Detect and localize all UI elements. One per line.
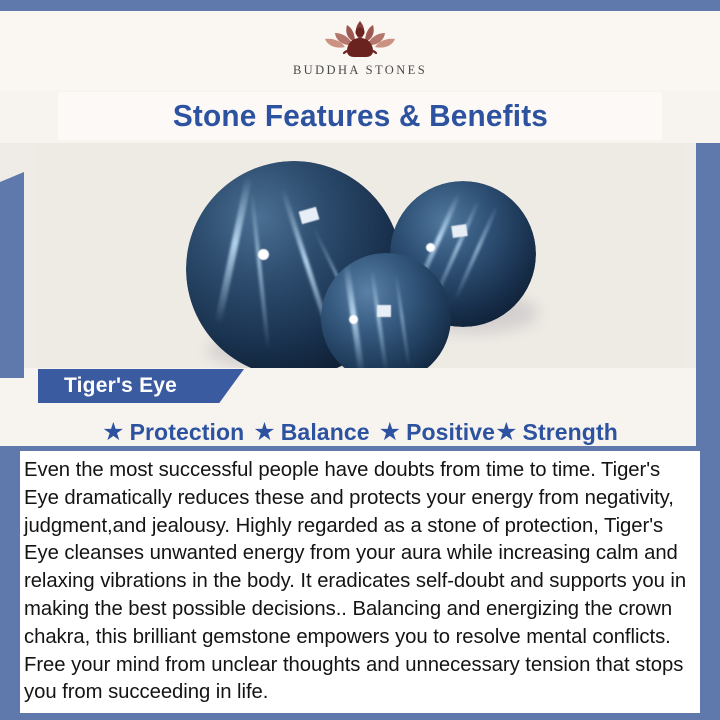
- page-title: Stone Features & Benefits: [172, 98, 547, 134]
- brand-logo-area: BUDDHA STONES: [0, 11, 720, 91]
- benefit-label: Positive: [406, 419, 495, 446]
- benefit-item-protection: ★ Protection: [102, 419, 253, 446]
- bead-reflection: [451, 224, 468, 238]
- product-photo: [0, 143, 720, 368]
- benefit-label: Protection: [130, 419, 245, 446]
- title-band: Stone Features & Benefits: [58, 92, 662, 140]
- benefit-label: Strength: [523, 419, 618, 446]
- brand-name: BUDDHA STONES: [293, 63, 427, 78]
- benefit-label: Balance: [281, 419, 370, 446]
- bead-highlight: [426, 243, 435, 252]
- lotus-meditation-icon: [314, 15, 406, 61]
- bead-highlight: [258, 249, 269, 260]
- stone-name-banner: Tiger's Eye: [38, 369, 244, 403]
- star-icon: ★: [495, 420, 517, 445]
- product-photo-inner: [38, 143, 682, 368]
- top-accent-strip: [0, 0, 720, 11]
- right-accent-bar: [696, 143, 720, 446]
- description-frame: Even the most successful people have dou…: [0, 446, 720, 720]
- star-icon: ★: [379, 420, 401, 445]
- left-accent-bar: [0, 172, 24, 378]
- description-text: Even the most successful people have dou…: [24, 457, 690, 707]
- stone-name-label: Tiger's Eye: [64, 374, 177, 398]
- benefit-item-balance: ★ Balance: [253, 419, 378, 446]
- benefit-item-positive: ★ Positive: [379, 419, 495, 446]
- benefit-item-strength: ★ Strength: [495, 419, 618, 446]
- infographic-page: BUDDHA STONES Stone Features & Benefits: [0, 0, 720, 720]
- description-panel: Even the most successful people have dou…: [20, 451, 700, 713]
- bead-reflection: [377, 305, 391, 317]
- star-icon: ★: [253, 420, 275, 445]
- bead-highlight: [349, 315, 358, 324]
- star-icon: ★: [102, 420, 124, 445]
